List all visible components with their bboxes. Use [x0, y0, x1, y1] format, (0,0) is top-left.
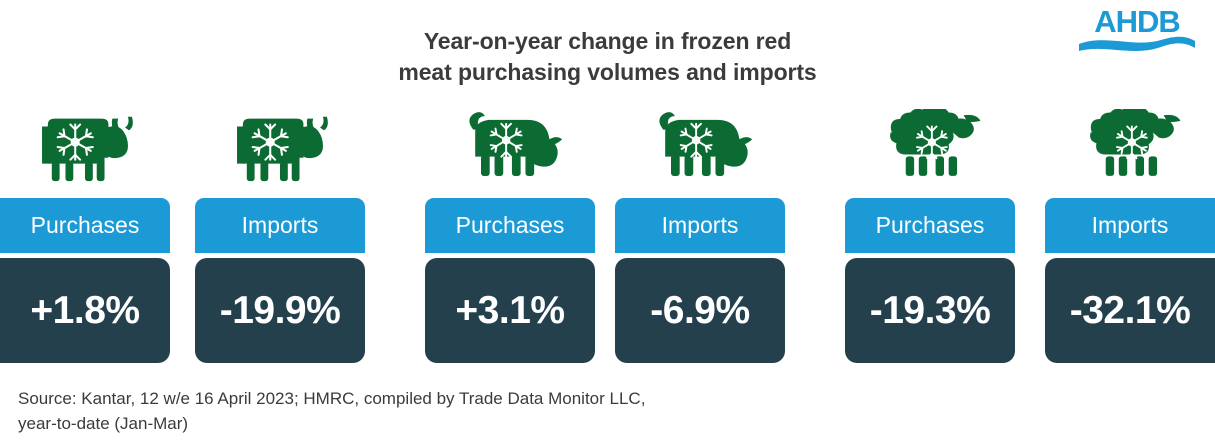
source-line-1: Source: Kantar, 12 w/e 16 April 2023; HM… [18, 386, 918, 411]
label-purchases: Purchases [845, 198, 1015, 253]
frozen-cow-icon [0, 95, 170, 198]
label-purchases: Purchases [0, 198, 170, 253]
group-lamb: Purchases -19.3% [840, 95, 1215, 370]
page-title: Year-on-year change in frozen red meat p… [0, 26, 1215, 88]
title-line-1: Year-on-year change in frozen red [0, 26, 1215, 57]
source-line-2: year-to-date (Jan-Mar) [18, 411, 918, 436]
cell-pork-imports: Imports -6.9% [615, 95, 785, 370]
label-purchases: Purchases [425, 198, 595, 253]
frozen-pig-icon [425, 95, 595, 198]
label-imports: Imports [1045, 198, 1215, 253]
value-beef-purchases: +1.8% [0, 258, 170, 363]
label-imports: Imports [615, 198, 785, 253]
value-pork-purchases: +3.1% [425, 258, 595, 363]
frozen-pig-icon [615, 95, 785, 198]
frozen-sheep-icon [1045, 95, 1215, 198]
group-pork: Purchases +3.1% [425, 95, 785, 370]
label-imports: Imports [195, 198, 365, 253]
cell-beef-imports: Imports -19.9% [195, 95, 365, 370]
value-pork-imports: -6.9% [615, 258, 785, 363]
metrics-panel: Purchases +1.8% [0, 95, 1215, 370]
value-lamb-imports: -32.1% [1045, 258, 1215, 363]
value-lamb-purchases: -19.3% [845, 258, 1015, 363]
title-line-2: meat purchasing volumes and imports [0, 57, 1215, 88]
frozen-sheep-icon [845, 95, 1015, 198]
cell-lamb-imports: Imports -32.1% [1045, 95, 1215, 370]
group-beef: Purchases +1.8% [0, 95, 370, 370]
value-beef-imports: -19.9% [195, 258, 365, 363]
frozen-cow-icon [195, 95, 365, 198]
cell-pork-purchases: Purchases +3.1% [425, 95, 595, 370]
source-note: Source: Kantar, 12 w/e 16 April 2023; HM… [18, 386, 918, 436]
cell-beef-purchases: Purchases +1.8% [0, 95, 170, 370]
cell-lamb-purchases: Purchases -19.3% [845, 95, 1015, 370]
